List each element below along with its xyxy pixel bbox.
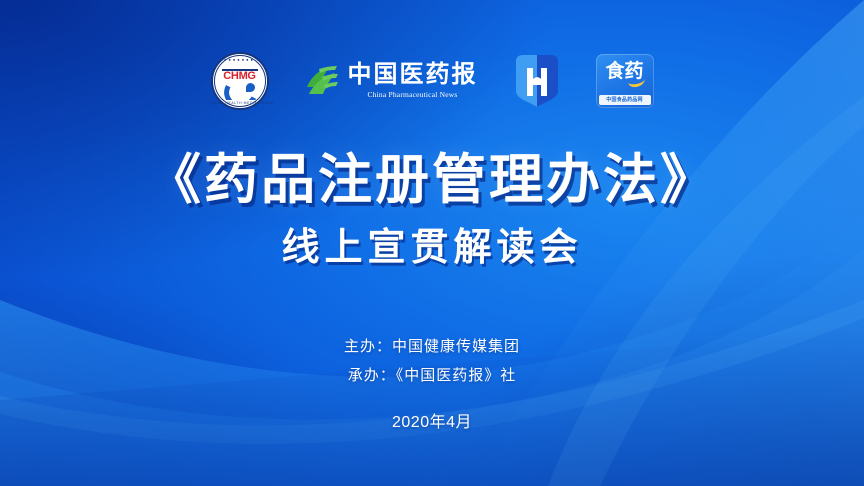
chmg-acronym: CHMG bbox=[211, 71, 269, 82]
chmg-seal-icon: ●●●●●●● CHMG CHINA HEALTH MEDIA GROUP bbox=[211, 52, 269, 110]
badge-caption: 中国食品药品网 bbox=[599, 95, 651, 105]
host-line: 主办：中国健康传媒集团 bbox=[0, 332, 864, 361]
food-drug-badge-icon: 食药 中国食品药品网 bbox=[596, 54, 654, 108]
cpn-chinese-name: 中国医药报 bbox=[348, 63, 478, 88]
chmg-swoosh-icon bbox=[224, 82, 256, 100]
badge-glyphs: 食药 bbox=[596, 59, 654, 85]
logo-china-pharmaceutical-news: 中国医药报 China Pharmaceutical News bbox=[305, 63, 478, 99]
chmg-ring-bottom-text: CHINA HEALTH MEDIA GROUP bbox=[211, 102, 269, 105]
green-leaf-icon bbox=[305, 63, 339, 99]
organizer-line: 承办：《中国医药报》社 bbox=[0, 361, 864, 390]
credits-block: 主办：中国健康传媒集团 承办：《中国医药报》社 bbox=[0, 332, 864, 391]
cpn-english-name: China Pharmaceutical News bbox=[368, 90, 458, 99]
page-subtitle: 线上宣贯解读会 bbox=[0, 226, 864, 272]
sponsor-logo-row: ●●●●●●● CHMG CHINA HEALTH MEDIA GROUP 中国… bbox=[0, 45, 864, 117]
logo-china-health-media-group: ●●●●●●● CHMG CHINA HEALTH MEDIA GROUP bbox=[211, 52, 269, 110]
logo-china-food-drug-network: 食药 中国食品药品网 bbox=[596, 54, 654, 108]
date-label: 2020年4月 bbox=[0, 408, 864, 432]
page-title: 《药品注册管理办法》 bbox=[0, 150, 864, 210]
presentation-slide: ●●●●●●● CHMG CHINA HEALTH MEDIA GROUP 中国… bbox=[0, 0, 864, 486]
chmg-ring-top-text: ●●●●●●● bbox=[211, 58, 269, 62]
shield-book-icon bbox=[514, 53, 560, 109]
logo-shield-book bbox=[514, 53, 560, 109]
badge-accent-stroke bbox=[627, 73, 645, 88]
